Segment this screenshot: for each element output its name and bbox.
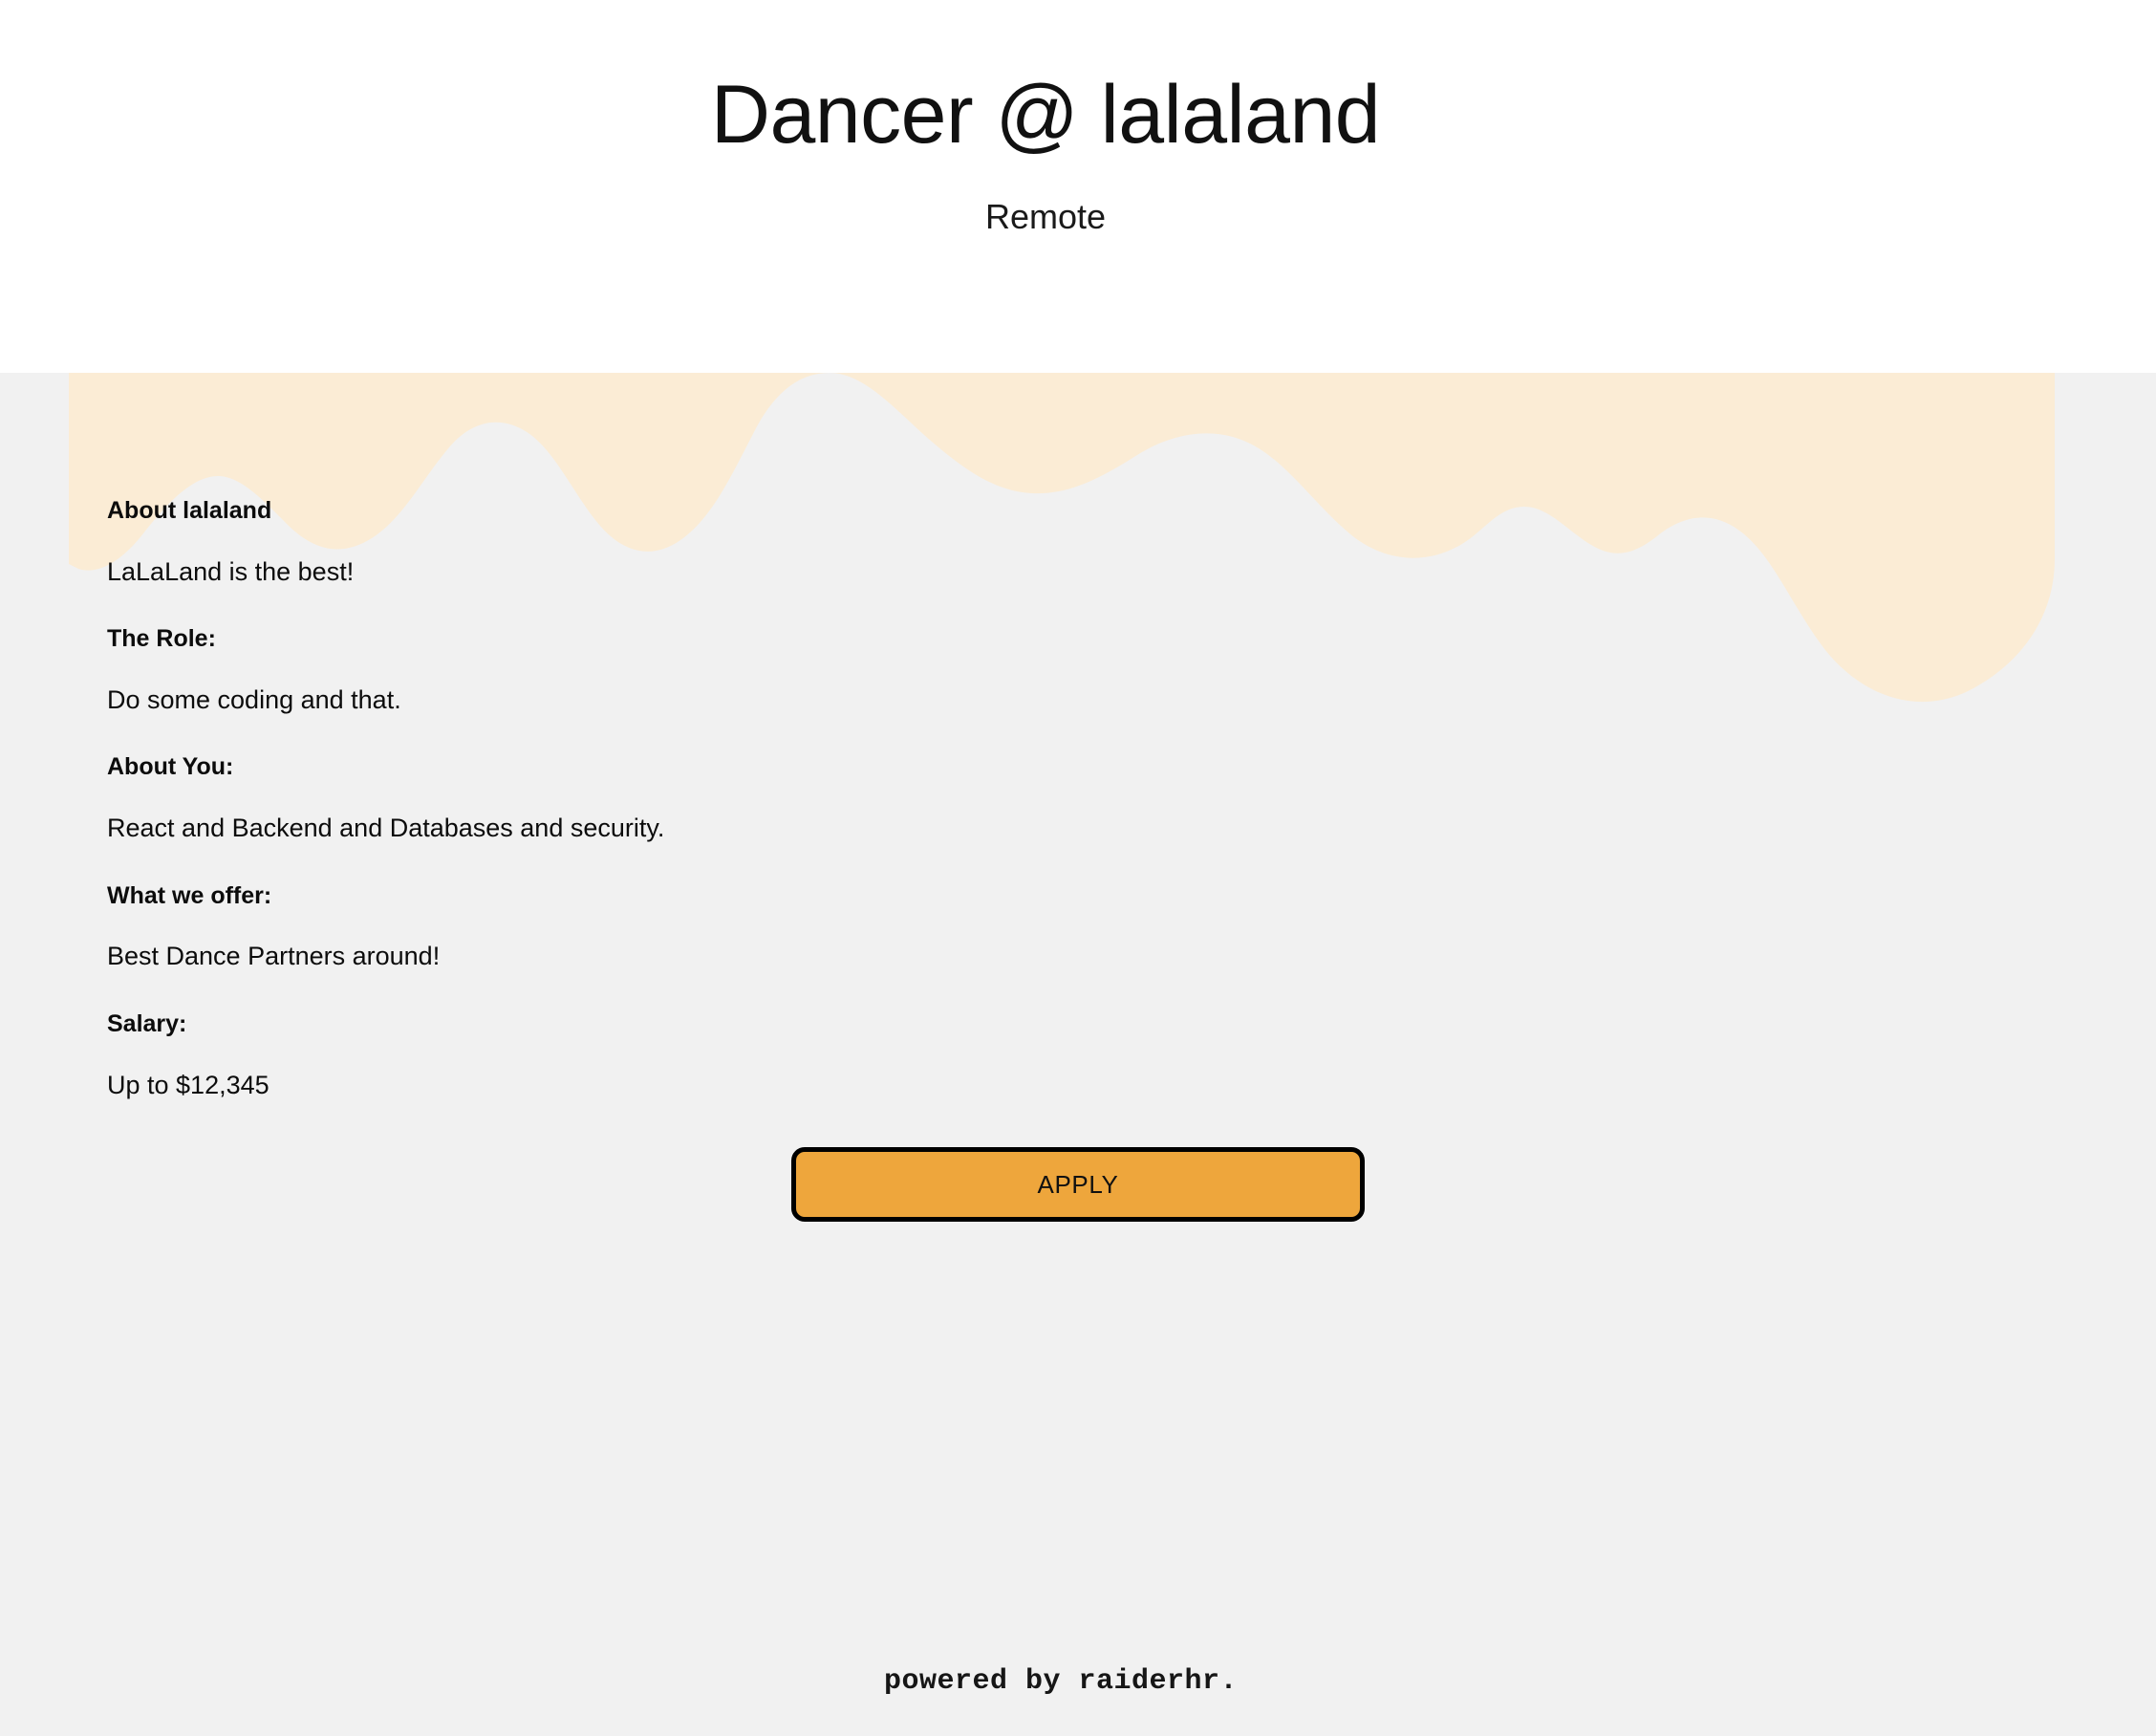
description-section: About lalaland LaLaLand is the best! — [107, 495, 1720, 589]
apply-button-row: APPLY — [0, 1147, 2156, 1222]
description-section: Salary: Up to $12,345 — [107, 1009, 1720, 1102]
job-description: About lalaland LaLaLand is the best! The… — [0, 373, 1720, 1102]
section-heading: About lalaland — [107, 495, 1720, 528]
page-footer: powered by raiderhr. — [0, 1665, 2156, 1698]
page-header: Dancer @ lalaland Remote — [0, 0, 2156, 373]
section-heading: The Role: — [107, 623, 1720, 656]
section-heading: About You: — [107, 751, 1720, 784]
job-location: Remote — [0, 197, 2124, 237]
description-section: What we offer: Best Dance Partners aroun… — [107, 880, 1720, 974]
section-body: Do some coding and that. — [107, 683, 1720, 717]
section-body: Up to $12,345 — [107, 1068, 1720, 1102]
section-body: LaLaLand is the best! — [107, 554, 1720, 589]
section-heading: What we offer: — [107, 880, 1720, 913]
description-section: The Role: Do some coding and that. — [107, 623, 1720, 717]
section-body: React and Backend and Databases and secu… — [107, 811, 1720, 845]
powered-by-label: powered by raiderhr. — [884, 1665, 1238, 1698]
section-body: Best Dance Partners around! — [107, 939, 1720, 973]
description-section: About You: React and Backend and Databas… — [107, 751, 1720, 845]
section-heading: Salary: — [107, 1009, 1720, 1041]
apply-button[interactable]: APPLY — [791, 1147, 1365, 1222]
page-title: Dancer @ lalaland — [0, 69, 2124, 161]
job-body: About lalaland LaLaLand is the best! The… — [0, 373, 2156, 1736]
